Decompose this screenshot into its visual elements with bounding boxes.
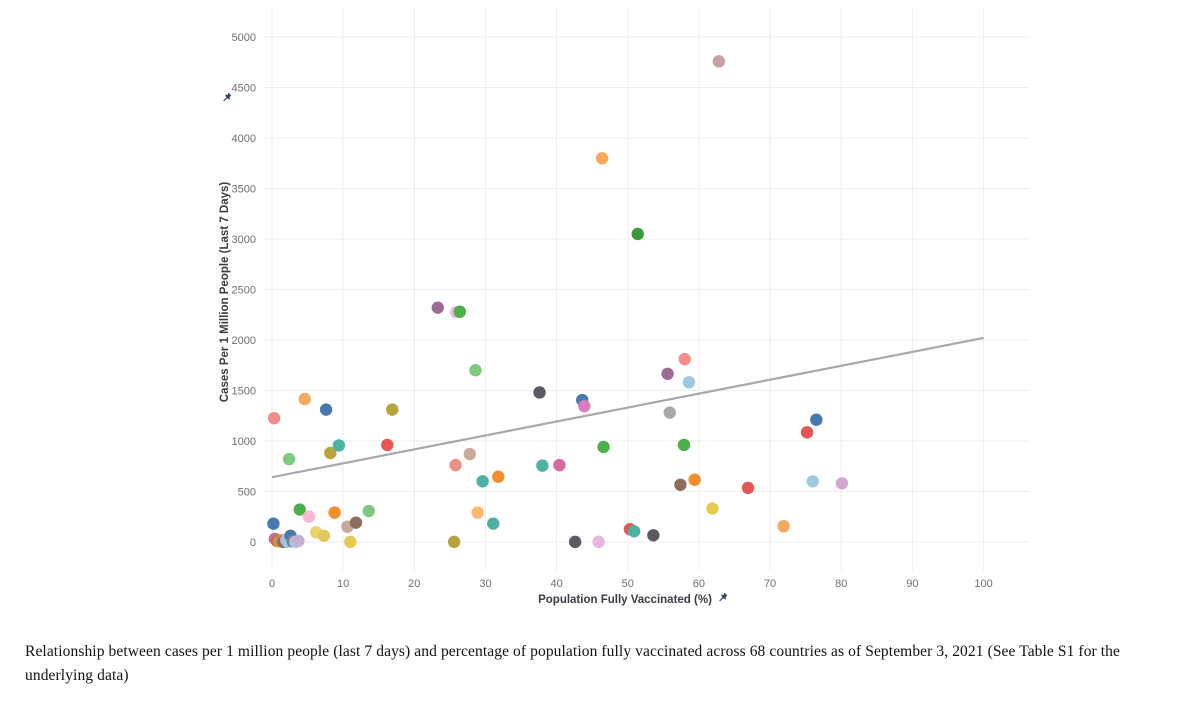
data-point[interactable]	[318, 530, 330, 542]
data-point[interactable]	[299, 393, 311, 405]
data-point[interactable]	[688, 474, 700, 486]
data-point[interactable]	[683, 376, 695, 388]
y-axis-tick-label: 5000	[232, 32, 256, 44]
figure-caption: Relationship between cases per 1 million…	[25, 640, 1175, 688]
x-axis-tick-label: 60	[693, 578, 705, 590]
x-axis-title: Population Fully Vaccinated (%)	[538, 594, 712, 606]
data-point[interactable]	[328, 506, 340, 518]
data-point[interactable]	[469, 364, 481, 376]
x-axis-tick-label: 30	[479, 578, 491, 590]
data-point[interactable]	[533, 386, 545, 398]
data-point[interactable]	[492, 471, 504, 483]
data-point[interactable]	[661, 368, 673, 380]
y-axis-tick-label: 2500	[232, 284, 256, 296]
data-point[interactable]	[647, 529, 659, 541]
data-point[interactable]	[464, 448, 476, 460]
data-point[interactable]	[706, 502, 718, 514]
data-point[interactable]	[592, 536, 604, 548]
x-axis-tick-label: 20	[408, 578, 420, 590]
data-point[interactable]	[449, 459, 461, 471]
data-point[interactable]	[632, 228, 644, 240]
data-point[interactable]	[448, 536, 460, 548]
data-point[interactable]	[777, 520, 789, 532]
data-point[interactable]	[303, 510, 315, 522]
x-axis-ticks-group: 0102030405060708090100	[269, 578, 993, 590]
y-axis-tick-label: 4500	[232, 83, 256, 95]
data-point[interactable]	[578, 400, 590, 412]
y-axis-title-group: Cases Per 1 Million People (Last 7 Days)	[219, 93, 231, 403]
data-point[interactable]	[487, 517, 499, 529]
data-point[interactable]	[268, 412, 280, 424]
x-axis-tick-label: 70	[764, 578, 776, 590]
data-point[interactable]	[454, 305, 466, 317]
x-axis-tick-label: 80	[835, 578, 847, 590]
data-point[interactable]	[363, 505, 375, 517]
x-axis-tick-label: 90	[906, 578, 918, 590]
data-point[interactable]	[713, 55, 725, 67]
y-axis-tick-label: 1000	[232, 436, 256, 448]
y-axis-tick-label: 2000	[232, 335, 256, 347]
data-point[interactable]	[432, 301, 444, 313]
y-axis-tick-label: 500	[238, 486, 256, 498]
scatter-chart: 0500100015002000250030003500400045005000…	[0, 0, 1200, 620]
x-axis-tick-label: 40	[550, 578, 562, 590]
scatter-plot-svg: 0500100015002000250030003500400045005000…	[0, 0, 1200, 620]
x-axis-pushpin-icon	[719, 593, 727, 602]
data-point[interactable]	[344, 536, 356, 548]
y-axis-ticks-group: 0500100015002000250030003500400045005000	[232, 32, 256, 549]
data-point[interactable]	[742, 482, 754, 494]
data-point[interactable]	[597, 441, 609, 453]
data-point[interactable]	[267, 517, 279, 529]
y-axis-tick-label: 0	[250, 537, 256, 549]
data-point[interactable]	[596, 152, 608, 164]
data-point[interactable]	[320, 403, 332, 415]
y-axis-tick-label: 3500	[232, 184, 256, 196]
data-point[interactable]	[283, 453, 295, 465]
data-point[interactable]	[628, 525, 640, 537]
y-axis-tick-label: 3000	[232, 234, 256, 246]
data-point[interactable]	[471, 506, 483, 518]
data-point[interactable]	[674, 479, 686, 491]
data-point[interactable]	[553, 459, 565, 471]
y-axis-tick-label: 1500	[232, 385, 256, 397]
data-point[interactable]	[292, 535, 304, 547]
data-point[interactable]	[801, 426, 813, 438]
y-axis-tick-label: 4000	[232, 133, 256, 145]
data-point[interactable]	[678, 439, 690, 451]
data-point[interactable]	[810, 413, 822, 425]
data-point[interactable]	[476, 475, 488, 487]
x-axis-title-group: Population Fully Vaccinated (%)	[538, 593, 727, 606]
y-axis-title: Cases Per 1 Million People (Last 7 Days)	[219, 182, 231, 403]
data-point[interactable]	[664, 406, 676, 418]
data-point[interactable]	[836, 477, 848, 489]
data-point[interactable]	[386, 403, 398, 415]
x-axis-tick-label: 50	[622, 578, 634, 590]
data-point[interactable]	[333, 439, 345, 451]
data-point[interactable]	[569, 536, 581, 548]
data-point[interactable]	[807, 475, 819, 487]
y-axis-pushpin-icon	[223, 93, 231, 102]
x-axis-tick-label: 100	[974, 578, 992, 590]
data-point[interactable]	[678, 353, 690, 365]
data-point[interactable]	[381, 439, 393, 451]
x-axis-tick-label: 0	[269, 578, 275, 590]
figure-container: 0500100015002000250030003500400045005000…	[0, 0, 1200, 708]
data-points-group	[267, 55, 848, 548]
data-point[interactable]	[536, 459, 548, 471]
gridlines-group	[264, 8, 1030, 570]
data-point[interactable]	[350, 516, 362, 528]
x-axis-tick-label: 10	[337, 578, 349, 590]
